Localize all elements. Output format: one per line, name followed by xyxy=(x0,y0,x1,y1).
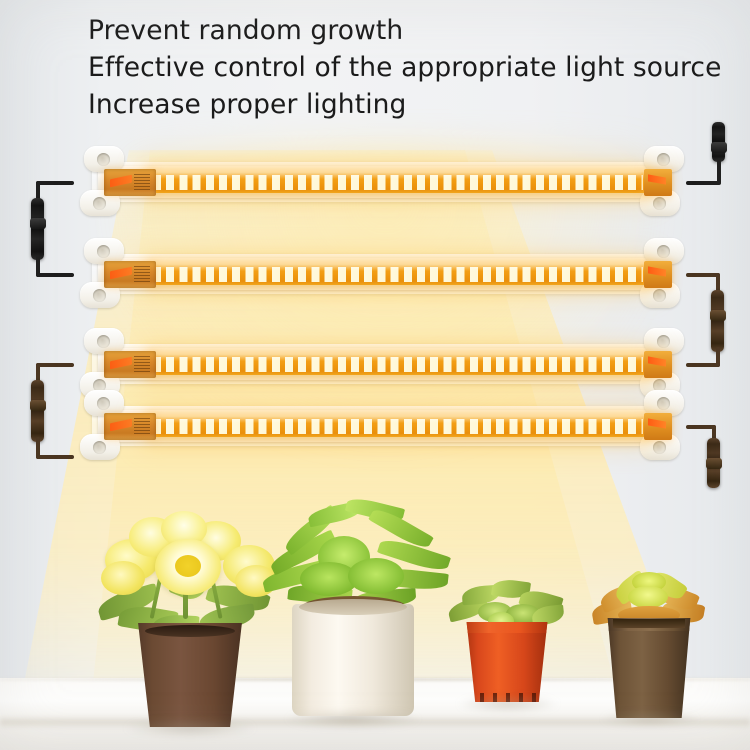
headline-line-2: Effective control of the appropriate lig… xyxy=(88,49,738,86)
product-image-canvas: Prevent random growth Effective control … xyxy=(0,0,750,750)
pot-shadow xyxy=(284,710,422,728)
yellow-flowering-plant xyxy=(95,495,285,710)
connector-top-right xyxy=(712,122,725,162)
led-bar-3[interactable] xyxy=(58,334,706,394)
connector-left-lower xyxy=(31,380,44,442)
pot-rim xyxy=(462,622,551,633)
flower-center-eye xyxy=(175,555,201,577)
led-bar-2[interactable] xyxy=(58,244,706,304)
bar3-driver-module xyxy=(104,351,156,378)
fern-frond xyxy=(348,558,404,594)
small-leafy-plant xyxy=(448,578,568,710)
bar1-strip-gloss xyxy=(150,172,646,179)
bar4-end-cap xyxy=(644,413,672,440)
bar4-driver-module xyxy=(104,413,156,440)
flower-bloom xyxy=(101,561,145,595)
bar3-strip-gloss xyxy=(150,354,646,361)
pot-inner-rim xyxy=(299,599,406,615)
bar2-strip-gloss xyxy=(150,264,646,271)
bar2-driver-module xyxy=(104,261,156,288)
bar1-end-cap xyxy=(644,169,672,196)
bar1-driver-module xyxy=(104,169,156,196)
plant-pot-terracotta xyxy=(464,622,550,702)
headline-line-3: Increase proper lighting xyxy=(88,86,738,123)
pot-shadow xyxy=(456,696,560,712)
pot-shadow xyxy=(600,712,700,726)
plant-pot-square xyxy=(606,618,692,718)
bar2-end-cap xyxy=(644,261,672,288)
bar1-led-strip xyxy=(150,172,646,193)
connector-left-upper xyxy=(31,198,44,260)
connector-bottom-right xyxy=(707,438,720,488)
plant-pot-cream xyxy=(292,604,414,716)
headline-block: Prevent random growth Effective control … xyxy=(88,12,738,123)
led-bar-1[interactable] xyxy=(58,152,706,212)
succulent-plant xyxy=(592,572,708,712)
headline-line-1: Prevent random growth xyxy=(88,12,738,49)
pot-inner-rim xyxy=(613,619,685,628)
connector-right-middle xyxy=(711,290,724,352)
bar2-led-strip xyxy=(150,264,646,285)
pot-shadow xyxy=(123,719,257,737)
bar3-led-strip xyxy=(150,354,646,375)
pot-inner-rim xyxy=(145,625,235,637)
bar4-led-strip xyxy=(150,416,646,437)
bar4-strip-gloss xyxy=(150,416,646,423)
led-bar-4[interactable] xyxy=(58,396,706,456)
bar3-end-cap xyxy=(644,351,672,378)
green-fern-plant xyxy=(262,500,452,710)
succulent-leaf-center xyxy=(628,586,668,608)
plant-pot-brown xyxy=(131,623,249,727)
